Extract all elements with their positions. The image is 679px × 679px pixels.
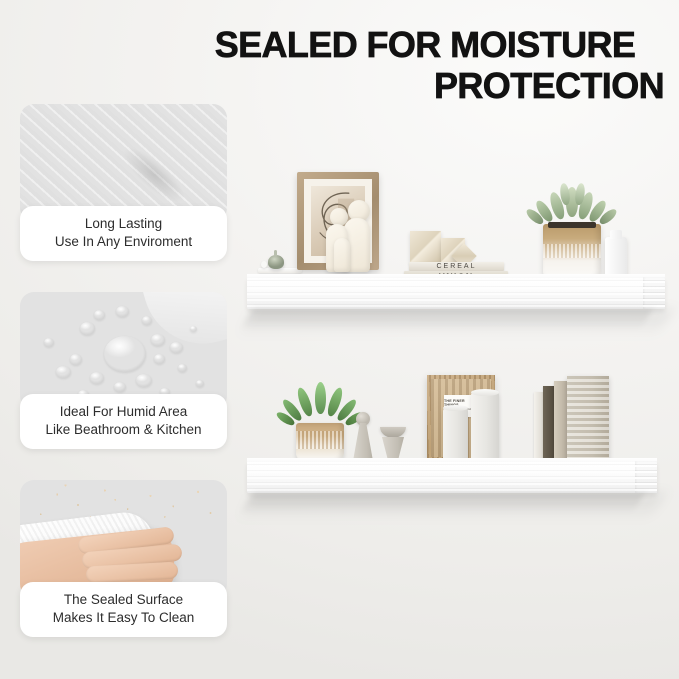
book-spine-dark (534, 392, 543, 461)
lower-shelf-underside (241, 493, 645, 513)
headline-line-1: SEALED FOR MOISTURE (215, 24, 636, 65)
upper-shelf-underside (241, 309, 653, 329)
feature-caption: The Sealed Surface Makes It Easy To Clea… (20, 582, 227, 637)
shelf-top-surface (247, 458, 657, 462)
feature-caption: Ideal For Humid Area Like Beathroom & Ki… (20, 394, 227, 449)
book-page-edges (567, 376, 609, 461)
agave-pot (296, 423, 344, 461)
bottle-neck (610, 230, 622, 239)
trinket-stem (274, 250, 277, 257)
book-spine-taupe (554, 381, 567, 461)
pillar-candle-short (443, 408, 468, 461)
headline-line-2: PROTECTION (180, 65, 670, 106)
caption-line-1: Long Lasting (26, 215, 221, 233)
shelf-end-cap (635, 461, 657, 493)
candle-short-top (443, 405, 468, 411)
agave-leaf (315, 382, 326, 414)
shelf-end-cap (643, 277, 665, 309)
water-drop-icon (70, 354, 82, 365)
wooden-figurine-bowl (380, 427, 406, 438)
water-drop-icon (44, 338, 54, 347)
feature-card-long-lasting: Long Lasting Use In Any Enviroment (20, 104, 227, 261)
book-cereal: CEREAL (409, 262, 504, 271)
caption-line-1: Ideal For Humid Area (26, 403, 221, 421)
wood-star-ornament-large (410, 231, 441, 262)
book-spine-olive (543, 386, 554, 461)
water-drop-icon (196, 380, 204, 387)
infographic-canvas: SEALED FOR MOISTURE PROTECTION Long Last… (0, 0, 679, 679)
shelf-board (247, 461, 657, 493)
caption-line-1: The Sealed Surface (26, 591, 221, 609)
water-drop-icon (114, 382, 126, 392)
feature-card-humid-area: Ideal For Humid Area Like Beathroom & Ki… (20, 292, 227, 449)
water-drop-icon (56, 366, 71, 378)
book-large-block (567, 376, 609, 461)
feature-caption: Long Lasting Use In Any Enviroment (20, 206, 227, 261)
water-drop-icon (154, 354, 165, 364)
water-drop-icon (104, 336, 146, 372)
hand-wiping-photo (20, 480, 227, 598)
agave-leaves (292, 382, 348, 428)
upper-floating-shelf (247, 277, 665, 309)
tiny-white-orb (261, 261, 267, 268)
candle-tall-top (471, 389, 499, 396)
pot-speckle-band (296, 431, 344, 449)
water-drop-icon (178, 364, 187, 372)
pot-soil (548, 222, 596, 228)
wooden-figurine-tall (353, 423, 373, 461)
water-drop-icon (116, 306, 129, 317)
small-sage-trinket (268, 255, 284, 269)
screw-photo (20, 104, 227, 222)
feature-card-easy-clean: The Sealed Surface Makes It Easy To Clea… (20, 480, 227, 637)
lower-floating-shelf (247, 461, 657, 493)
caption-line-2: Like Beathroom & Kitchen (26, 421, 221, 439)
water-drop-icon (136, 374, 152, 387)
water-droplets-photo (20, 292, 227, 410)
succulent-pot (543, 224, 601, 280)
book-title-cereal: CEREAL (436, 263, 476, 270)
water-drop-icon (90, 372, 104, 384)
figurine-body-child (334, 238, 350, 272)
page-title: SEALED FOR MOISTURE PROTECTION (180, 24, 670, 106)
pillar-candle-tall (471, 392, 499, 461)
caption-line-2: Use In Any Enviroment (26, 233, 221, 251)
water-drop-icon (142, 316, 152, 325)
succulent-leaves (536, 183, 610, 227)
white-tray (258, 268, 302, 273)
caption-line-2: Makes It Easy To Clean (26, 609, 221, 627)
surface-glint (140, 292, 227, 358)
water-drop-icon (80, 322, 95, 335)
shelf-top-surface (247, 274, 665, 278)
shelf-board (247, 277, 665, 309)
water-drop-icon (94, 310, 105, 320)
water-drop-icon (190, 326, 197, 332)
water-drop-icon (170, 342, 183, 353)
water-drop-icon (151, 334, 165, 346)
pot-speckle-band (543, 244, 601, 258)
